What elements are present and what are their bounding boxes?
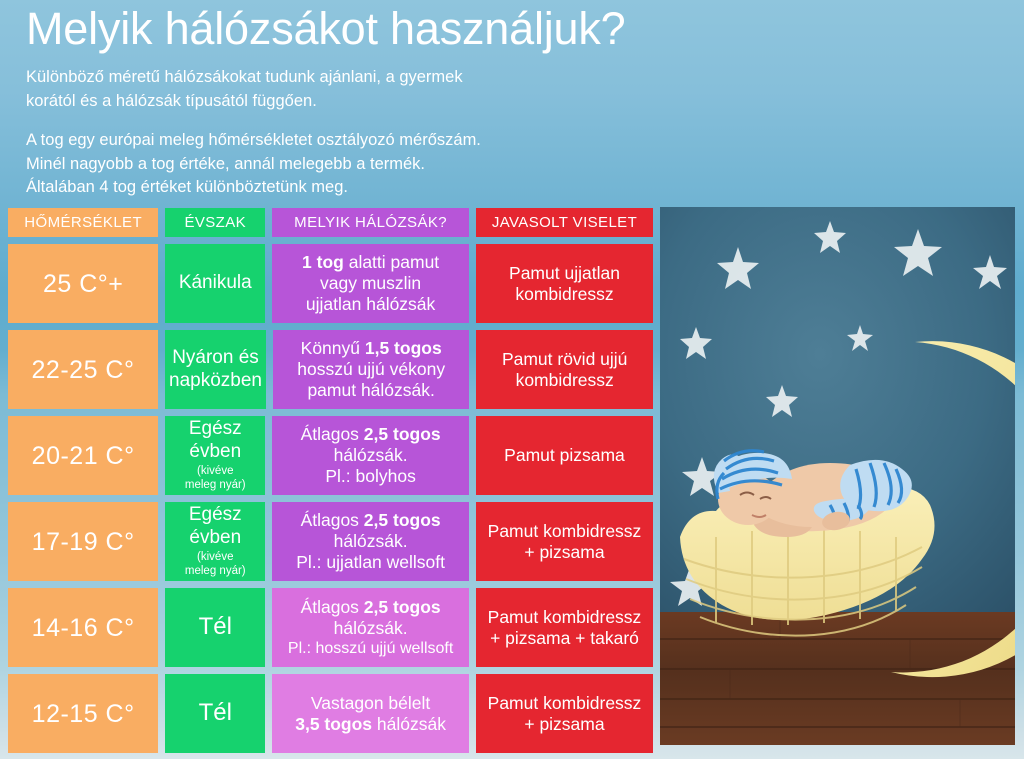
intro-p1-l2: korától és a hálózsák típusától függően. [26, 90, 726, 113]
wear-line-1: Pamut kombidressz [480, 693, 649, 714]
wear-line-1: Pamut kombidressz [480, 521, 649, 542]
table-row: 17-19 C° Egész évben (kivéve meleg nyár)… [8, 502, 653, 581]
bag-line-1: Átlagos 2,5 togos [276, 510, 465, 531]
cell-wear: Pamut ujjatlan kombidressz [476, 244, 653, 323]
cell-temperature: 25 C°+ [8, 244, 158, 323]
column-header-bag: MELYIK HÁLÓZSÁK? [272, 208, 469, 237]
season-line-1: Nyáron és [169, 347, 262, 370]
baby-on-moon-photo [660, 207, 1015, 745]
wear-line-2: + pizsama + takaró [480, 628, 649, 649]
table-row: 14-16 C° Tél Átlagos 2,5 togos hálózsák.… [8, 588, 653, 667]
intro-p2-l3: Általában 4 tog értéket különböztetünk m… [26, 176, 726, 199]
wear-line-2: + pizsama [480, 542, 649, 563]
table-row: 20-21 C° Egész évben (kivéve meleg nyár)… [8, 416, 653, 495]
table-header-row: HŐMÉRSÉKLET ÉVSZAK MELYIK HÁLÓZSÁK? JAVA… [8, 208, 653, 237]
wear-line-1: Pamut ujjatlan [480, 263, 649, 284]
bag-line-1: Vastagon bélelt [276, 693, 465, 714]
table-row: 12-15 C° Tél Vastagon bélelt 3,5 togos h… [8, 674, 653, 753]
season-line-2: napközben [169, 370, 262, 393]
column-header-wear: JAVASOLT VISELET [476, 208, 653, 237]
bag-line-2: hálózsák. [276, 445, 465, 466]
season-note-1: (kivéve [169, 465, 261, 478]
season-line-1: Egész [169, 418, 261, 441]
intro-p2-l1: A tog egy európai meleg hőmérsékletet os… [26, 129, 726, 152]
wear-line-2: kombidressz [480, 284, 649, 305]
bag-line-3: Pl.: hosszú ujjú wellsoft [276, 639, 465, 658]
bag-line-2: hálózsák. [276, 618, 465, 639]
cell-temperature: 17-19 C° [8, 502, 158, 581]
intro-p2-l2: Minél nagyobb a tog értéke, annál melege… [26, 153, 726, 176]
cell-wear: Pamut pizsama [476, 416, 653, 495]
photo-illustration [660, 207, 1015, 745]
bag-line-1: Átlagos 2,5 togos [276, 424, 465, 445]
cell-temperature: 20-21 C° [8, 416, 158, 495]
cell-bag: Átlagos 2,5 togos hálózsák. Pl.: ujjatla… [272, 502, 469, 581]
page-title: Melyik hálózsákot használjuk? [26, 4, 726, 54]
bag-line-3: ujjatlan hálózsák [276, 294, 465, 315]
season-line-2: évben [169, 527, 261, 550]
wear-line-2: kombidressz [480, 370, 649, 391]
bag-line-2: 3,5 togos hálózsák [276, 714, 465, 735]
intro-p1-l1: Különböző méretű hálózsákokat tudunk ajá… [26, 66, 726, 89]
bag-line-3: pamut hálózsák. [277, 380, 465, 401]
cell-bag: Átlagos 2,5 togos hálózsák. Pl.: bolyhos [272, 416, 469, 495]
cell-bag: Átlagos 2,5 togos hálózsák. Pl.: hosszú … [272, 588, 469, 667]
column-header-season: ÉVSZAK [165, 208, 265, 237]
intro-text: Különböző méretű hálózsákokat tudunk ajá… [26, 66, 726, 199]
bag-line-1: 1 tog alatti pamut [276, 252, 465, 273]
bag-line-2: hosszú ujjú vékony [277, 359, 465, 380]
cell-wear: Pamut kombidressz + pizsama [476, 502, 653, 581]
cell-temperature: 14-16 C° [8, 588, 158, 667]
intro-spacer [26, 113, 726, 129]
infographic-page: Melyik hálózsákot használjuk? Különböző … [0, 0, 1024, 759]
cell-wear: Pamut kombidressz + pizsama [476, 674, 653, 753]
cell-season: Tél [165, 674, 265, 753]
header-block: Melyik hálózsákot használjuk? Különböző … [26, 4, 726, 200]
wear-line-1: Pamut pizsama [480, 445, 649, 466]
cell-bag: Könnyű 1,5 togos hosszú ujjú vékony pamu… [273, 330, 469, 409]
cell-bag: 1 tog alatti pamut vagy muszlin ujjatlan… [272, 244, 469, 323]
cell-season: Kánikula [165, 244, 265, 323]
bag-line-2: hálózsák. [276, 531, 465, 552]
season-note-2: meleg nyár) [169, 565, 261, 578]
bag-line-3: Pl.: ujjatlan wellsoft [276, 552, 465, 573]
cell-temperature: 22-25 C° [8, 330, 158, 409]
bag-line-1: Könnyű 1,5 togos [277, 338, 465, 359]
cell-temperature: 12-15 C° [8, 674, 158, 753]
cell-bag: Vastagon bélelt 3,5 togos hálózsák [272, 674, 469, 753]
wear-line-1: Pamut rövid ujjú [480, 349, 649, 370]
wear-line-2: + pizsama [480, 714, 649, 735]
season-line-2: évben [169, 441, 261, 464]
cell-season: Nyáron és napközben [165, 330, 266, 409]
bag-line-1: Átlagos 2,5 togos [276, 597, 465, 618]
cell-season: Egész évben (kivéve meleg nyár) [165, 416, 265, 495]
cell-wear: Pamut rövid ujjú kombidressz [476, 330, 653, 409]
season-line-1: Egész [169, 504, 261, 527]
season-note-2: meleg nyár) [169, 479, 261, 492]
bag-line-3: Pl.: bolyhos [276, 466, 465, 487]
column-header-temperature: HŐMÉRSÉKLET [8, 208, 158, 237]
cell-season: Tél [165, 588, 265, 667]
season-note-1: (kivéve [169, 551, 261, 564]
table-row: 22-25 C° Nyáron és napközben Könnyű 1,5 … [8, 330, 653, 409]
cell-season: Egész évben (kivéve meleg nyár) [165, 502, 265, 581]
recommendation-table: HŐMÉRSÉKLET ÉVSZAK MELYIK HÁLÓZSÁK? JAVA… [8, 208, 653, 759]
bag-line-2: vagy muszlin [276, 273, 465, 294]
cell-wear: Pamut kombidressz + pizsama + takaró [476, 588, 653, 667]
table-row: 25 C°+ Kánikula 1 tog alatti pamut vagy … [8, 244, 653, 323]
wear-line-1: Pamut kombidressz [480, 607, 649, 628]
